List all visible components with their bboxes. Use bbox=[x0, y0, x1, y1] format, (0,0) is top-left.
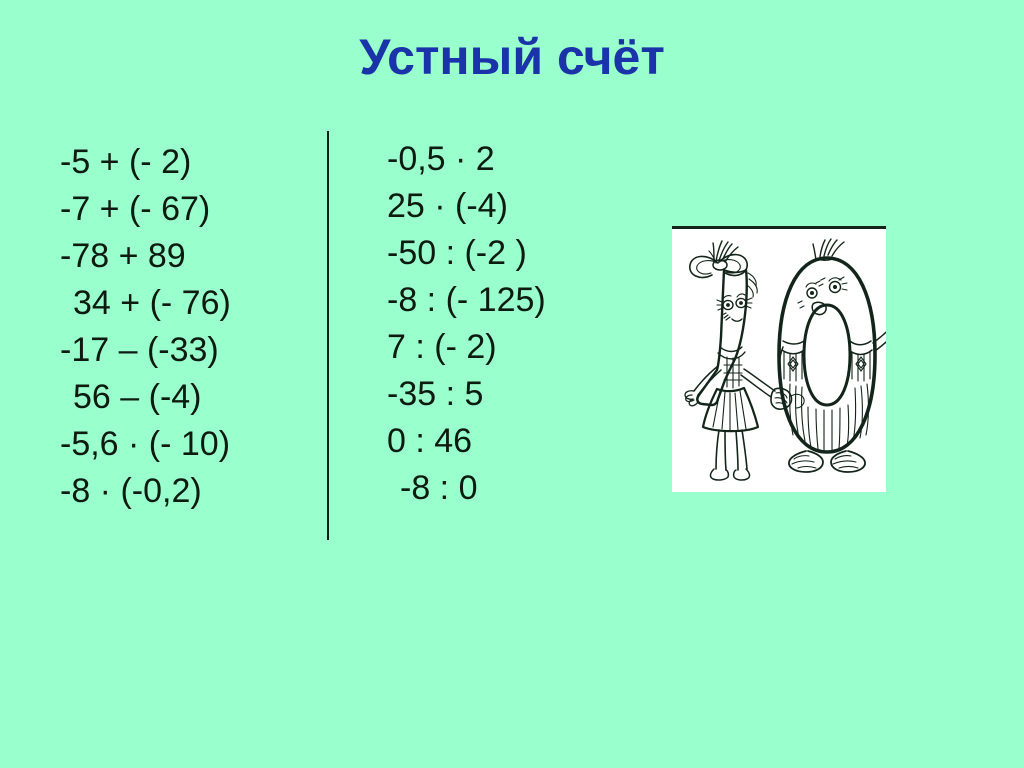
expression-item: 0 : 46 bbox=[387, 418, 546, 465]
slide-canvas: Устный счёт -5 + (- 2) -7 + (- 67) -78 +… bbox=[0, 0, 1024, 768]
expression-item: -50 : (-2 ) bbox=[387, 230, 546, 277]
column-divider bbox=[327, 131, 329, 540]
page-title: Устный счёт bbox=[0, 28, 1024, 86]
expression-item: -8 : (- 125) bbox=[387, 277, 546, 324]
expression-item: -5,6 · (- 10) bbox=[60, 421, 231, 468]
expression-item: -7 + (- 67) bbox=[60, 186, 231, 233]
expression-item: -78 + 89 bbox=[60, 233, 231, 280]
expression-item: -8 : 0 bbox=[387, 465, 546, 512]
expression-item: -35 : 5 bbox=[387, 371, 546, 418]
expression-item: -5 + (- 2) bbox=[60, 139, 231, 186]
expression-item: -0,5 · 2 bbox=[387, 136, 546, 183]
expression-item: 34 + (- 76) bbox=[60, 280, 231, 327]
expression-item: -17 – (-33) bbox=[60, 327, 231, 374]
left-expression-column: -5 + (- 2) -7 + (- 67) -78 + 89 34 + (- … bbox=[60, 139, 231, 515]
right-expression-column: -0,5 · 2 25 · (-4) -50 : (-2 ) -8 : (- 1… bbox=[387, 136, 546, 512]
expression-item: 25 · (-4) bbox=[387, 183, 546, 230]
expression-item: 56 – (-4) bbox=[60, 374, 231, 421]
expression-item: -8 · (-0,2) bbox=[60, 468, 231, 515]
cartoon-number-ten-characters-icon bbox=[672, 229, 886, 492]
expression-item: 7 : (- 2) bbox=[387, 324, 546, 371]
cartoon-number-ten-characters-image bbox=[672, 226, 886, 492]
